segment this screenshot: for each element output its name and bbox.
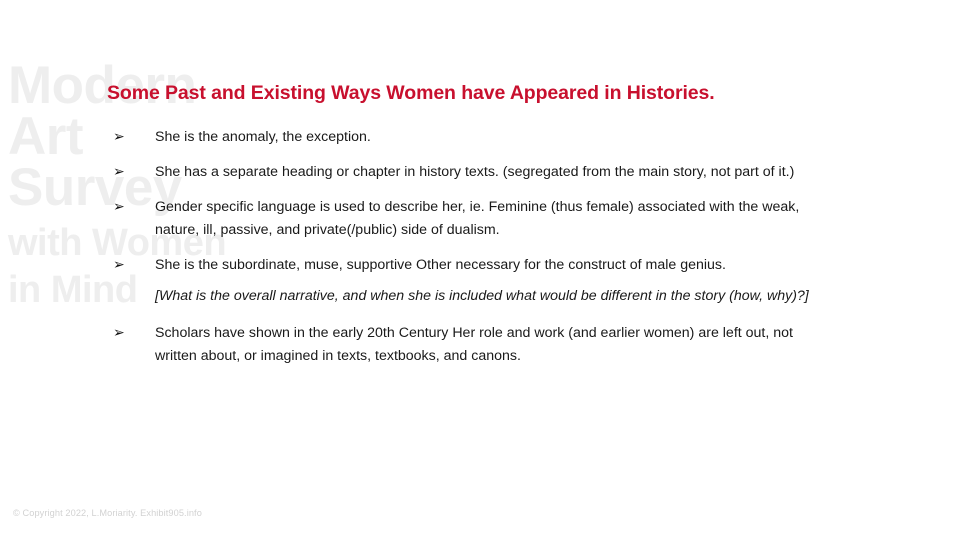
slide-canvas: Modern Art Survey with Women in Mind Som… xyxy=(0,0,960,540)
bullet-item: ➢ She is the anomaly, the exception. xyxy=(110,126,830,149)
italic-note-text: [What is the overall narrative, and when… xyxy=(110,285,830,308)
bullet-item: ➢ Scholars have shown in the early 20th … xyxy=(110,322,830,368)
arrowhead-bullet-icon: ➢ xyxy=(113,254,137,277)
arrowhead-bullet-icon: ➢ xyxy=(113,196,137,219)
copyright-notice: © Copyright 2022, L.Moriarity. Exhibit90… xyxy=(13,508,202,518)
bullet-item-text: Scholars have shown in the early 20th Ce… xyxy=(155,322,830,368)
slide-title: Some Past and Existing Ways Women have A… xyxy=(107,82,907,105)
bullet-item: ➢ She is the subordinate, muse, supporti… xyxy=(110,254,830,277)
slide-body: ➢ She is the anomaly, the exception. ➢ S… xyxy=(110,126,830,380)
bullet-item: ➢ She has a separate heading or chapter … xyxy=(110,161,830,184)
bullet-item-text: Gender specific language is used to desc… xyxy=(155,196,830,242)
bullet-item: ➢ Gender specific language is used to de… xyxy=(110,196,830,242)
bullet-item-text: She has a separate heading or chapter in… xyxy=(155,161,830,184)
bullet-item-text: She is the subordinate, muse, supportive… xyxy=(155,254,830,277)
arrowhead-bullet-icon: ➢ xyxy=(113,322,137,345)
arrowhead-bullet-icon: ➢ xyxy=(113,161,137,184)
bullet-item-text: She is the anomaly, the exception. xyxy=(155,126,830,149)
arrowhead-bullet-icon: ➢ xyxy=(113,126,137,149)
